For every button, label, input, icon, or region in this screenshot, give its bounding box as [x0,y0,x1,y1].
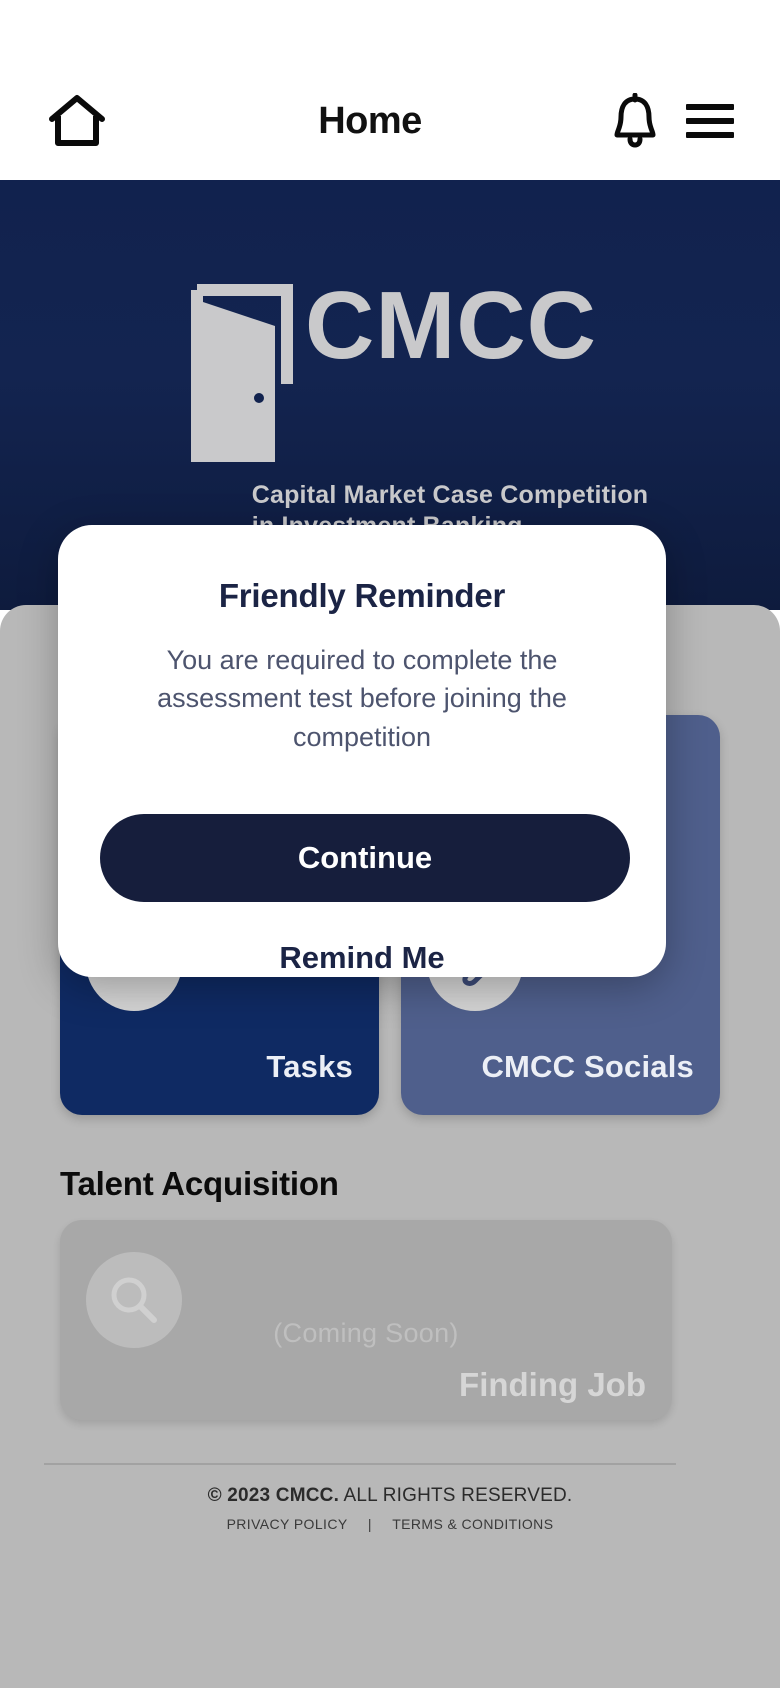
friendly-reminder-dialog: Friendly Reminder You are required to co… [58,525,666,977]
logo-text-column: CMCC [305,280,597,371]
hamburger-line [686,118,734,124]
coming-soon-label: (Coming Soon) [60,1318,672,1349]
dialog-title: Friendly Reminder [100,577,624,615]
footer: © 2023 CMCC. ALL RIGHTS RESERVED. PRIVAC… [0,1485,780,1532]
remind-me-button[interactable]: Remind Me [100,940,624,976]
header-right-group [574,93,734,149]
open-door-icon [183,280,301,470]
finding-job-card[interactable]: (Coming Soon) Finding Job [60,1220,672,1420]
footer-link-separator: | [368,1516,372,1532]
footer-copyright: © 2023 CMCC. ALL RIGHTS RESERVED. [0,1485,780,1507]
link-privacy-policy[interactable]: PRIVACY POLICY [227,1516,348,1532]
page-title: Home [166,100,574,143]
continue-button[interactable]: Continue [100,814,630,902]
finding-job-label: Finding Job [459,1366,646,1404]
link-terms-conditions[interactable]: TERMS & CONDITIONS [392,1516,553,1532]
hamburger-line [686,132,734,138]
status-bar [0,0,780,62]
logo-wordmark: CMCC [305,280,597,371]
section-title-talent-acquisition: Talent Acquisition [60,1165,339,1203]
bell-icon[interactable] [612,93,658,149]
hamburger-menu-icon[interactable] [686,104,734,138]
footer-copyright-bold: © 2023 CMCC. [208,1485,340,1506]
footer-links: PRIVACY POLICY | TERMS & CONDITIONS [0,1516,780,1532]
card-label: CMCC Socials [481,1049,694,1085]
footer-copyright-rest: ALL RIGHTS RESERVED. [339,1485,572,1506]
home-icon[interactable] [46,92,108,150]
dialog-message: You are required to complete the assessm… [100,641,624,756]
tagline-line-1: Capital Market Case Competition [252,480,649,511]
footer-divider [44,1463,676,1465]
cmcc-logo: CMCC Capital Market Case Competition in … [0,280,780,543]
card-label: Tasks [266,1049,353,1085]
logo-row: CMCC [183,280,597,470]
header-left-group [46,92,166,150]
app-header: Home [0,62,780,180]
hamburger-line [686,104,734,110]
app-root: Home [0,0,780,1688]
